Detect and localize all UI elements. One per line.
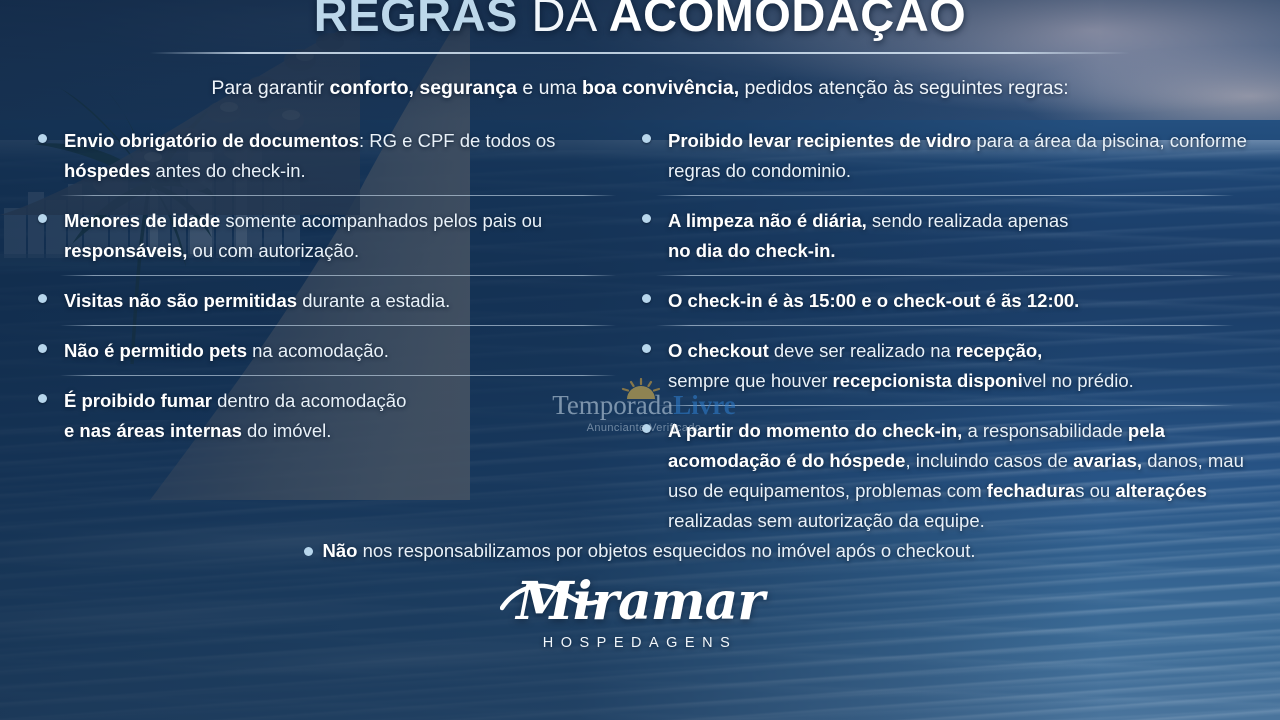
bullet-icon <box>642 294 651 303</box>
rule-text: O checkout deve ser realizado na recepçã… <box>668 336 1252 396</box>
rule-text: A limpeza não é diária, sendo realizada … <box>668 206 1252 266</box>
bullet-icon <box>304 547 313 556</box>
logo-tagline: HOSPEDAGENS <box>0 635 1280 651</box>
final-rule: Não nos responsabilizamos por objetos es… <box>0 540 1280 562</box>
rule-divider <box>60 195 616 196</box>
bullet-icon <box>642 344 651 353</box>
bullet-icon <box>642 424 651 433</box>
rule-item: Não é permitido pets na acomodação. <box>38 336 638 366</box>
rule-item: Proibido levar recipientes de vidro para… <box>642 126 1252 186</box>
brand-logo: Miramar HOSPEDAGENS <box>0 576 1280 651</box>
rule-text: Proibido levar recipientes de vidro para… <box>668 126 1252 186</box>
page-title: REGRAS DA ACOMODAÇÃO <box>0 0 1280 43</box>
title-divider <box>150 52 1130 54</box>
bullet-icon <box>38 134 47 143</box>
rule-item: Envio obrigatório de documentos: RG e CP… <box>38 126 638 186</box>
bullet-icon <box>642 214 651 223</box>
rule-item: O check-in é às 15:00 e o check-out é ãs… <box>642 286 1252 316</box>
bullet-icon <box>642 134 651 143</box>
rule-item: A partir do momento do check-in, a respo… <box>642 416 1252 536</box>
rule-text: O check-in é às 15:00 e o check-out é ãs… <box>668 286 1252 316</box>
bullet-icon <box>38 344 47 353</box>
rule-text: É proibido fumar dentro da acomodaçãoe n… <box>64 386 638 446</box>
rule-item: Visitas não são permitidas durante a est… <box>38 286 638 316</box>
bullet-icon <box>38 294 47 303</box>
rule-text: Visitas não são permitidas durante a est… <box>64 286 638 316</box>
rule-divider <box>60 325 616 326</box>
logo-name: Miramar <box>516 576 764 628</box>
rules-column-left: Envio obrigatório de documentos: RG e CP… <box>38 126 638 446</box>
subtitle: Para garantir conforto, segurança e uma … <box>0 77 1280 100</box>
rule-divider <box>656 325 1234 326</box>
accommodation-rules-poster: REGRAS DA ACOMODAÇÃO Para garantir confo… <box>0 0 1280 720</box>
rules-column-right: Proibido levar recipientes de vidro para… <box>642 126 1252 536</box>
rule-item: A limpeza não é diária, sendo realizada … <box>642 206 1252 266</box>
title-word-regras: REGRAS <box>314 0 518 41</box>
title-word-acomodacao: ACOMODAÇÃO <box>609 0 966 41</box>
rule-divider <box>656 275 1234 276</box>
title-word-da: DA <box>531 0 595 41</box>
rule-text: A partir do momento do check-in, a respo… <box>668 416 1252 536</box>
rule-divider <box>60 275 616 276</box>
rule-item: É proibido fumar dentro da acomodaçãoe n… <box>38 386 638 446</box>
rule-item: O checkout deve ser realizado na recepçã… <box>642 336 1252 396</box>
bullet-icon <box>38 394 47 403</box>
bullet-icon <box>38 214 47 223</box>
rule-divider <box>656 405 1234 406</box>
rule-text: Menores de idade somente acompanhados pe… <box>64 206 638 266</box>
rule-divider <box>656 195 1234 196</box>
final-rule-text: Não nos responsabilizamos por objetos es… <box>322 540 975 561</box>
rule-text: Não é permitido pets na acomodação. <box>64 336 638 366</box>
rule-item: Menores de idade somente acompanhados pe… <box>38 206 638 266</box>
rule-divider <box>60 375 616 376</box>
rule-text: Envio obrigatório de documentos: RG e CP… <box>64 126 638 186</box>
